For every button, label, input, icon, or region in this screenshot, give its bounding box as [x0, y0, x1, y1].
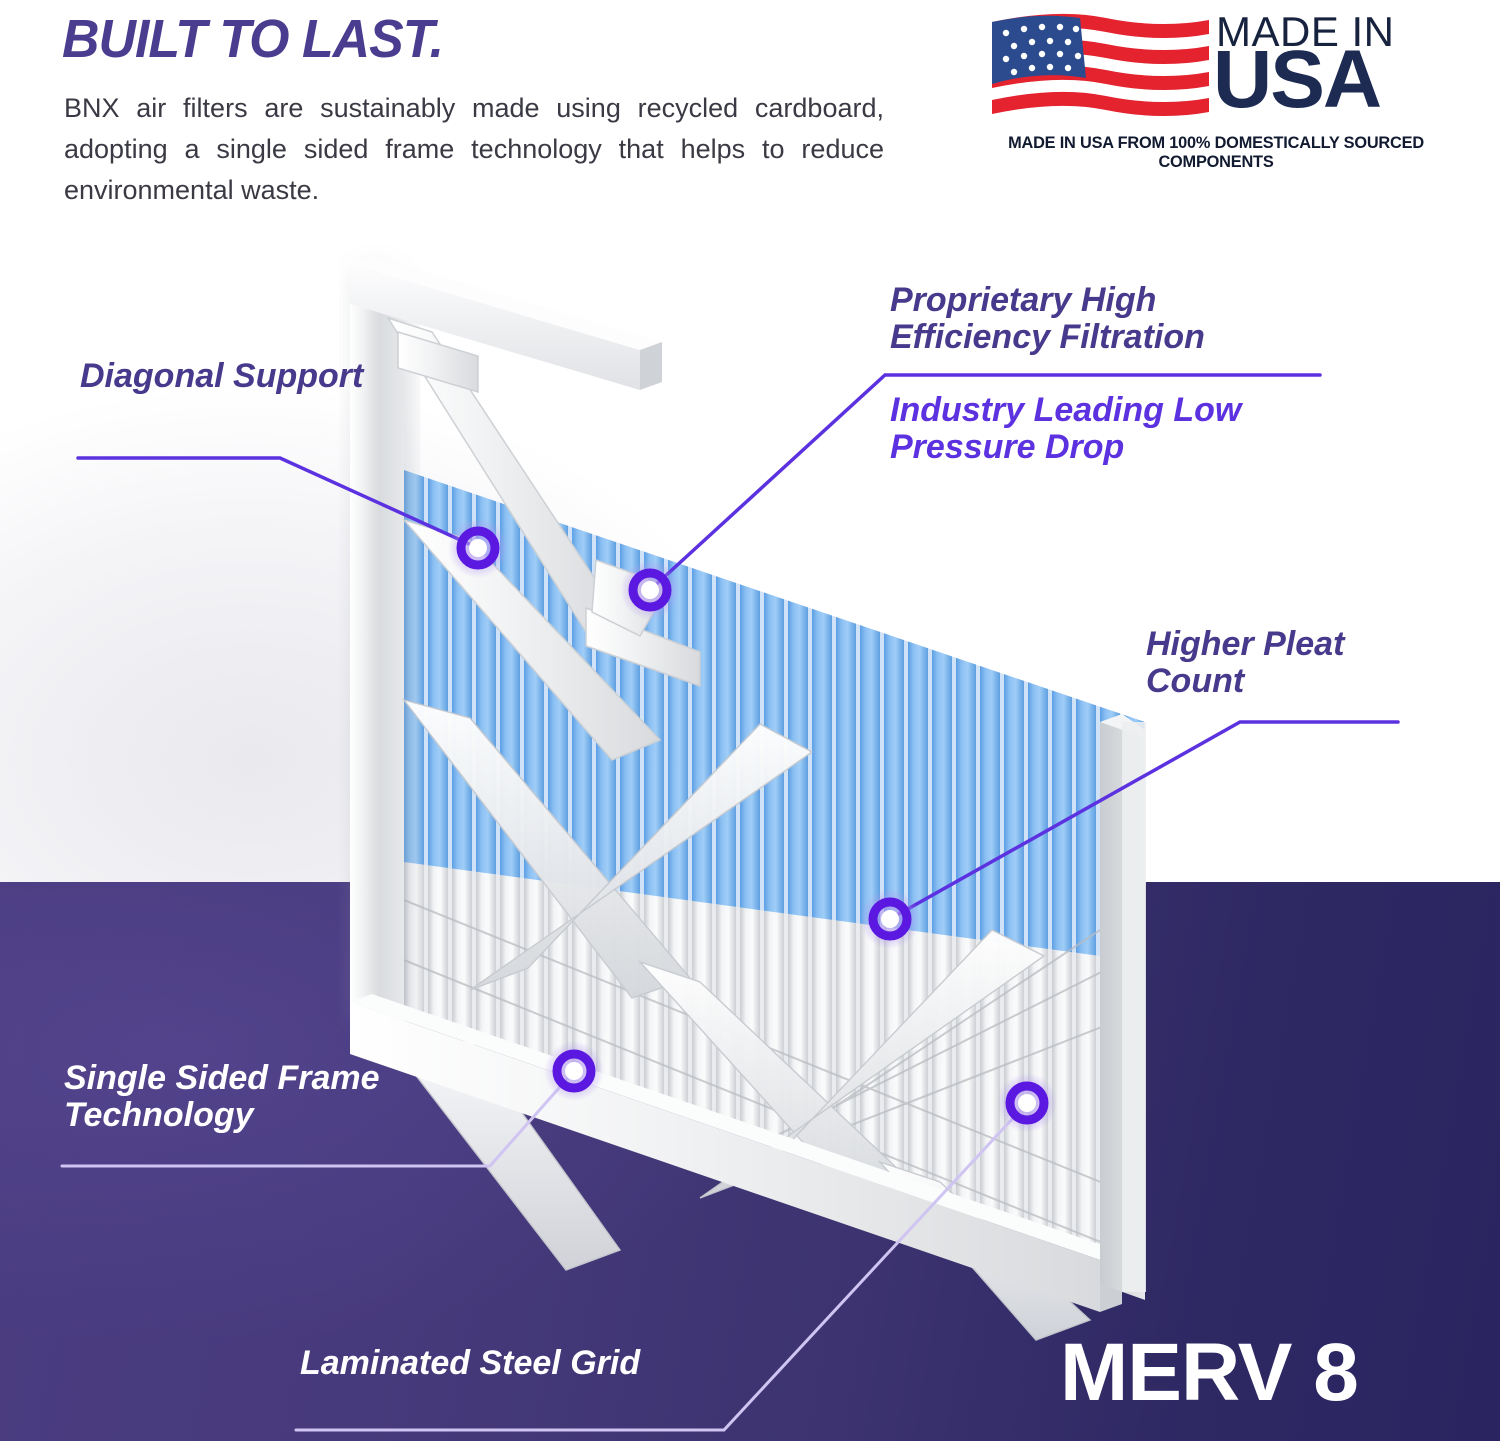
marker-pleat-count	[860, 889, 920, 949]
callout-label-laminated-grid: Laminated Steel Grid	[300, 1345, 740, 1382]
frame-right-post	[1100, 714, 1146, 1300]
marker-single-sided-frame	[544, 1041, 604, 1101]
callout-label-pleat-count: Higher Pleat Count	[1146, 626, 1416, 699]
callout-label-pressure-drop: Industry Leading Low Pressure Drop	[890, 392, 1330, 465]
badge-usa-text: USA	[1213, 42, 1380, 117]
marker-diagonal-support	[448, 518, 508, 578]
badge-disclaimer: MADE IN USA FROM 100% DOMESTICALLY SOURC…	[994, 134, 1438, 172]
callout-label-single-sided-frame: Single Sided Frame Technology	[64, 1060, 464, 1133]
page-title: BUILT TO LAST.	[62, 8, 443, 70]
made-in-usa-badge: MADE IN USA MADE IN USA FROM 100% DOMEST…	[988, 4, 1440, 156]
marker-proprietary-filtration	[620, 560, 680, 620]
marker-laminated-grid	[997, 1073, 1057, 1133]
page-description: BNX air filters are sustainably made usi…	[64, 88, 884, 211]
product-illustration	[0, 0, 1500, 1441]
merv-rating-text: MERV 8	[1060, 1326, 1358, 1420]
infographic-canvas: BUILT TO LAST. BNX air filters are susta…	[0, 0, 1500, 1441]
callout-label-proprietary-filtration: Proprietary High Efficiency Filtration	[890, 282, 1290, 355]
callout-label-diagonal-support: Diagonal Support	[80, 358, 363, 395]
usa-flag-icon	[988, 8, 1213, 133]
